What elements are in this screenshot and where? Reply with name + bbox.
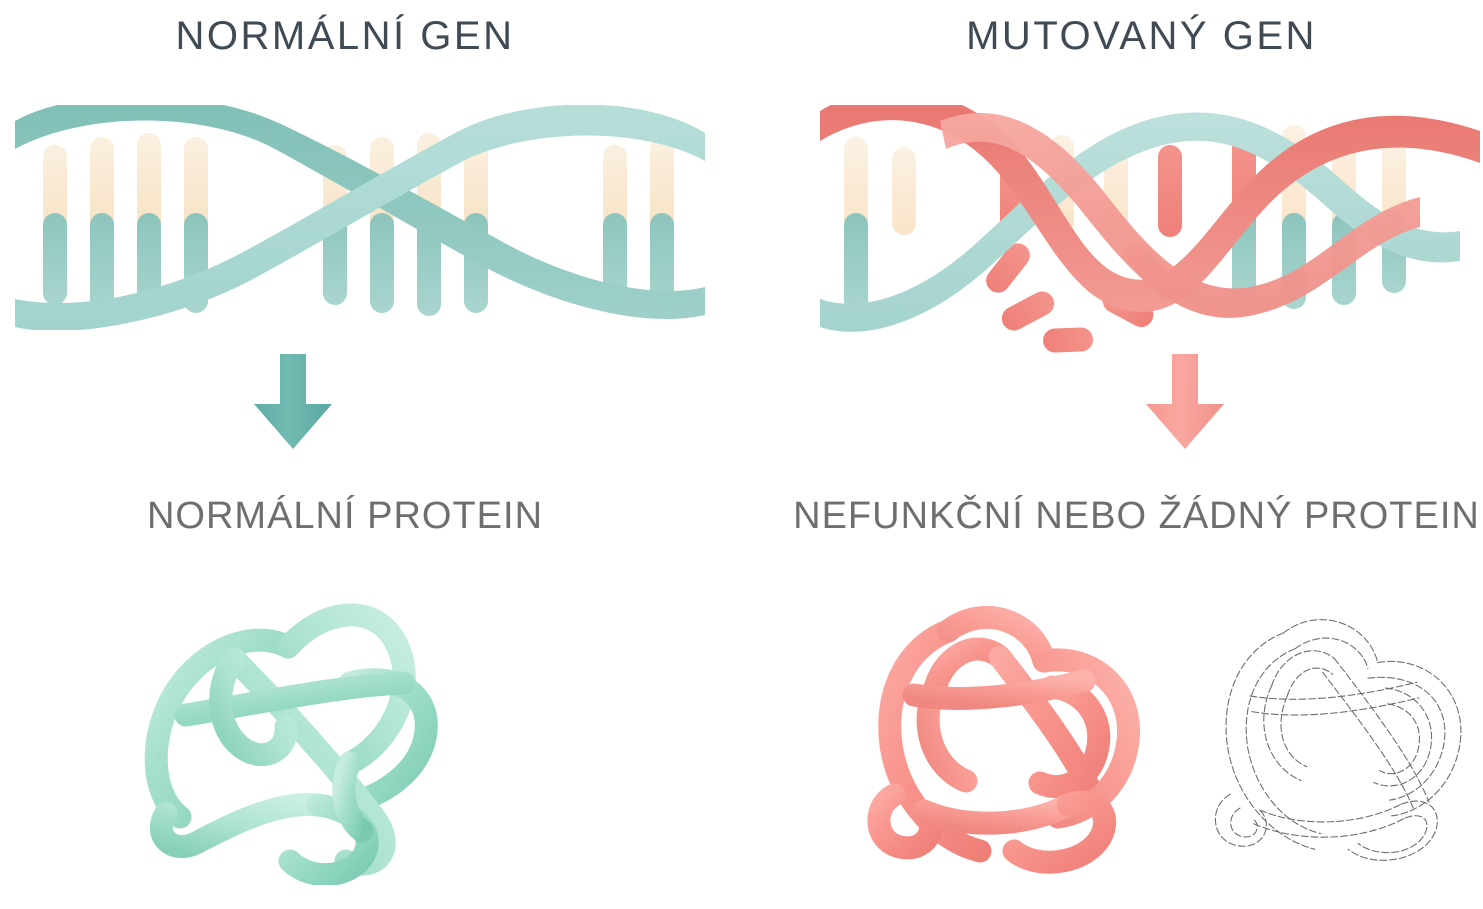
arrow-normal-gene-to-protein <box>248 352 338 452</box>
normal-protein-structure <box>138 555 438 885</box>
base-pair-rungs-intact-left <box>844 137 916 313</box>
nonfunctional-protein-title: NEFUNKČNÍ NEBO ŽÁDNÝ PROTEIN <box>790 495 1483 538</box>
diagram-canvas: NORMÁLNÍ GEN MUTOVANÝ GEN <box>0 0 1483 909</box>
arrow-mutated-gene-to-protein <box>1140 352 1230 452</box>
normal-protein-title: NORMÁLNÍ PROTEIN <box>0 495 690 538</box>
mutated-dna-helix <box>820 105 1480 360</box>
nonfunctional-protein-structure <box>848 555 1148 885</box>
protein-knot-tube-green <box>156 615 426 875</box>
protein-knot-tube-red <box>879 617 1129 862</box>
absent-protein-outline <box>1185 558 1480 883</box>
normal-dna-helix <box>5 105 705 330</box>
normal-gene-title: NORMÁLNÍ GEN <box>0 14 690 59</box>
mutated-gene-title: MUTOVANÝ GEN <box>800 14 1483 59</box>
protein-knot-outline <box>1215 620 1461 861</box>
